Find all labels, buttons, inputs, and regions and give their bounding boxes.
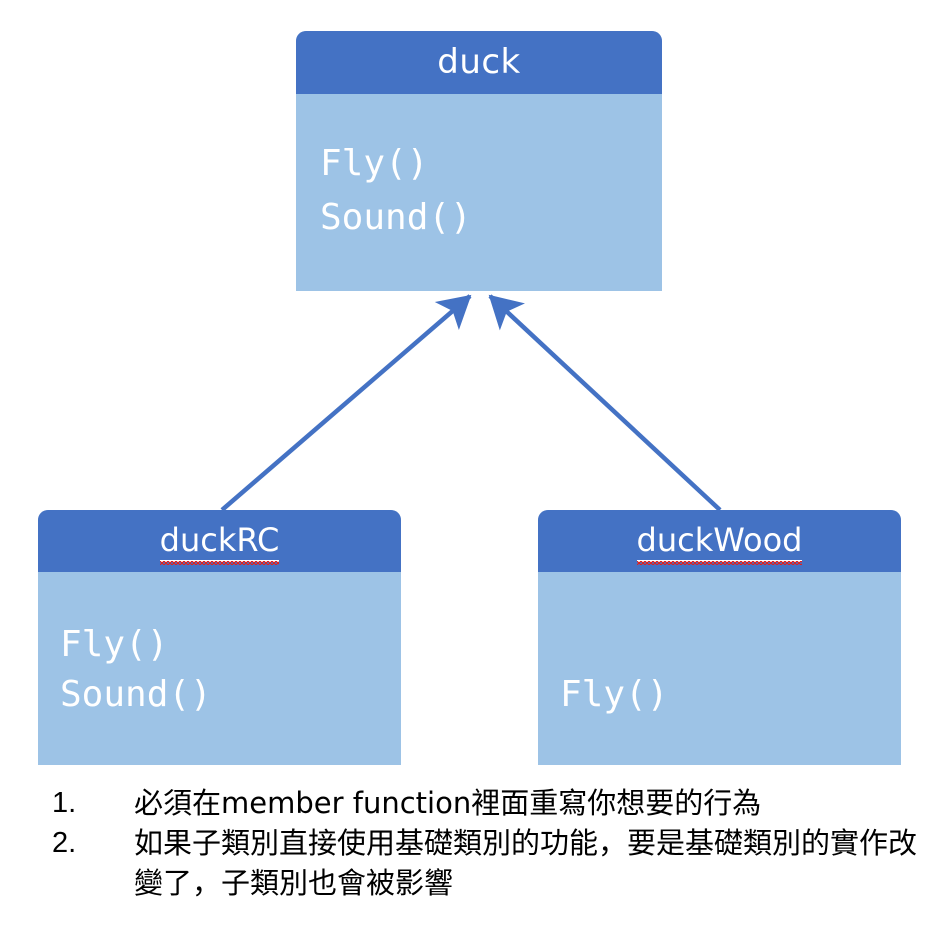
diagram-canvas: duck Fly() Sound() duckRC Fly() Sound() … xyxy=(0,0,939,940)
class-title-duckwood: duckWood xyxy=(637,521,803,562)
spellcheck-squiggle-icon xyxy=(160,561,280,565)
connector-duckwood-to-duck xyxy=(490,296,720,510)
class-header-duckwood: duckWood xyxy=(538,510,901,572)
class-box-duck[interactable]: duck Fly() Sound() xyxy=(296,31,662,291)
class-title-duckwood-text: duckWood xyxy=(637,521,803,559)
note-text: 如果子類別直接使用基礎類別的功能，要是基礎類別的實作改變了，子類別也會被影響 xyxy=(134,823,932,903)
class-methods-duckrc: Fly() Sound() xyxy=(38,572,401,765)
note-number: 2. xyxy=(52,823,134,863)
class-title-duck-text: duck xyxy=(437,42,521,82)
class-title-duckrc: duckRC xyxy=(160,521,280,562)
class-box-duckrc[interactable]: duckRC Fly() Sound() xyxy=(38,510,401,765)
notes-list: 1. 必須在member function裡面重寫你想要的行為 2. 如果子類別… xyxy=(52,783,932,903)
list-item: 1. 必須在member function裡面重寫你想要的行為 xyxy=(52,783,932,823)
class-header-duck: duck xyxy=(296,31,662,94)
note-number: 1. xyxy=(52,783,134,823)
class-methods-duckwood: Fly() xyxy=(538,572,901,765)
class-header-duckrc: duckRC xyxy=(38,510,401,572)
spellcheck-squiggle-icon xyxy=(637,561,803,565)
class-title-duckrc-text: duckRC xyxy=(160,521,280,559)
class-title-duck: duck xyxy=(437,42,521,83)
connector-duckrc-to-duck xyxy=(222,296,470,510)
list-item: 2. 如果子類別直接使用基礎類別的功能，要是基礎類別的實作改變了，子類別也會被影… xyxy=(52,823,932,903)
class-box-duckwood[interactable]: duckWood Fly() xyxy=(538,510,901,765)
note-text: 必須在member function裡面重寫你想要的行為 xyxy=(134,783,932,823)
class-methods-duck: Fly() Sound() xyxy=(296,94,662,291)
